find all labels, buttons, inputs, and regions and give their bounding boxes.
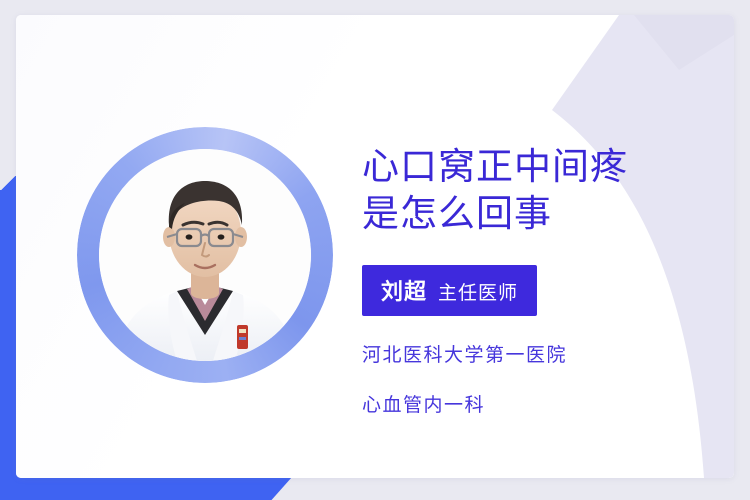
doctor-portrait-photo <box>99 149 311 361</box>
department-name: 心血管内一科 <box>362 390 712 417</box>
bottom-accent-bar <box>0 477 292 500</box>
doctor-name: 刘超 <box>381 274 427 306</box>
doctor-info-block: 心口窝正中间疼 是怎么回事 刘超 主任医师 河北医科大学第一医院 心血管内一科 <box>362 143 712 417</box>
doctor-name-badge: 刘超 主任医师 <box>362 265 537 316</box>
doctor-rank: 主任医师 <box>438 278 518 305</box>
poster-canvas: 心口窝正中间疼 是怎么回事 刘超 主任医师 河北医科大学第一医院 心血管内一科 <box>0 0 750 500</box>
hospital-name: 河北医科大学第一医院 <box>362 340 712 367</box>
page-title: 心口窝正中间疼 是怎么回事 <box>362 143 712 237</box>
doctor-info-card: 心口窝正中间疼 是怎么回事 刘超 主任医师 河北医科大学第一医院 心血管内一科 <box>16 15 734 478</box>
avatar <box>77 127 333 383</box>
